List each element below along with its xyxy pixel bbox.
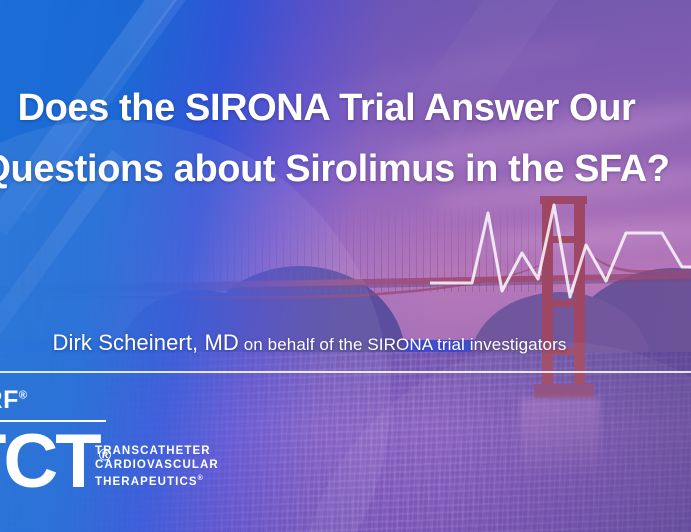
tagline-line-3-text: THERAPEUTICS <box>95 476 198 488</box>
crf-label: CRF <box>0 386 19 414</box>
presenter-affiliation: on behalf of the SIRONA trial investigat… <box>239 335 567 354</box>
crf-logo-text: CRF® <box>0 388 28 413</box>
page-title: Does the SIRONA Trial Answer Our Questio… <box>0 78 691 200</box>
tagline-line-1: TRANSCATHETER <box>95 445 219 459</box>
crf-registered-mark: ® <box>19 390 28 402</box>
tagline-line-2: CARDIOVASCULAR <box>95 459 219 473</box>
tagline-registered-mark: ® <box>198 475 204 482</box>
title-line-2: Questions about Sirolimus in the SFA? <box>0 139 691 200</box>
presenter-name: Dirk Scheinert, MD <box>53 330 239 355</box>
divider-rule <box>0 371 691 373</box>
title-line-1: Does the SIRONA Trial Answer Our <box>0 78 691 139</box>
tct-label: TCT <box>0 419 99 504</box>
title-slide: Does the SIRONA Trial Answer Our Questio… <box>0 0 691 532</box>
byline: Dirk Scheinert, MD on behalf of the SIRO… <box>0 330 655 356</box>
tct-logo: CRF® TCT® TRANSCATHETER CARDIOVASCULAR T… <box>0 388 294 518</box>
tct-tagline: TRANSCATHETER CARDIOVASCULAR THERAPEUTIC… <box>95 445 219 490</box>
tagline-line-3: THERAPEUTICS® <box>95 472 219 489</box>
